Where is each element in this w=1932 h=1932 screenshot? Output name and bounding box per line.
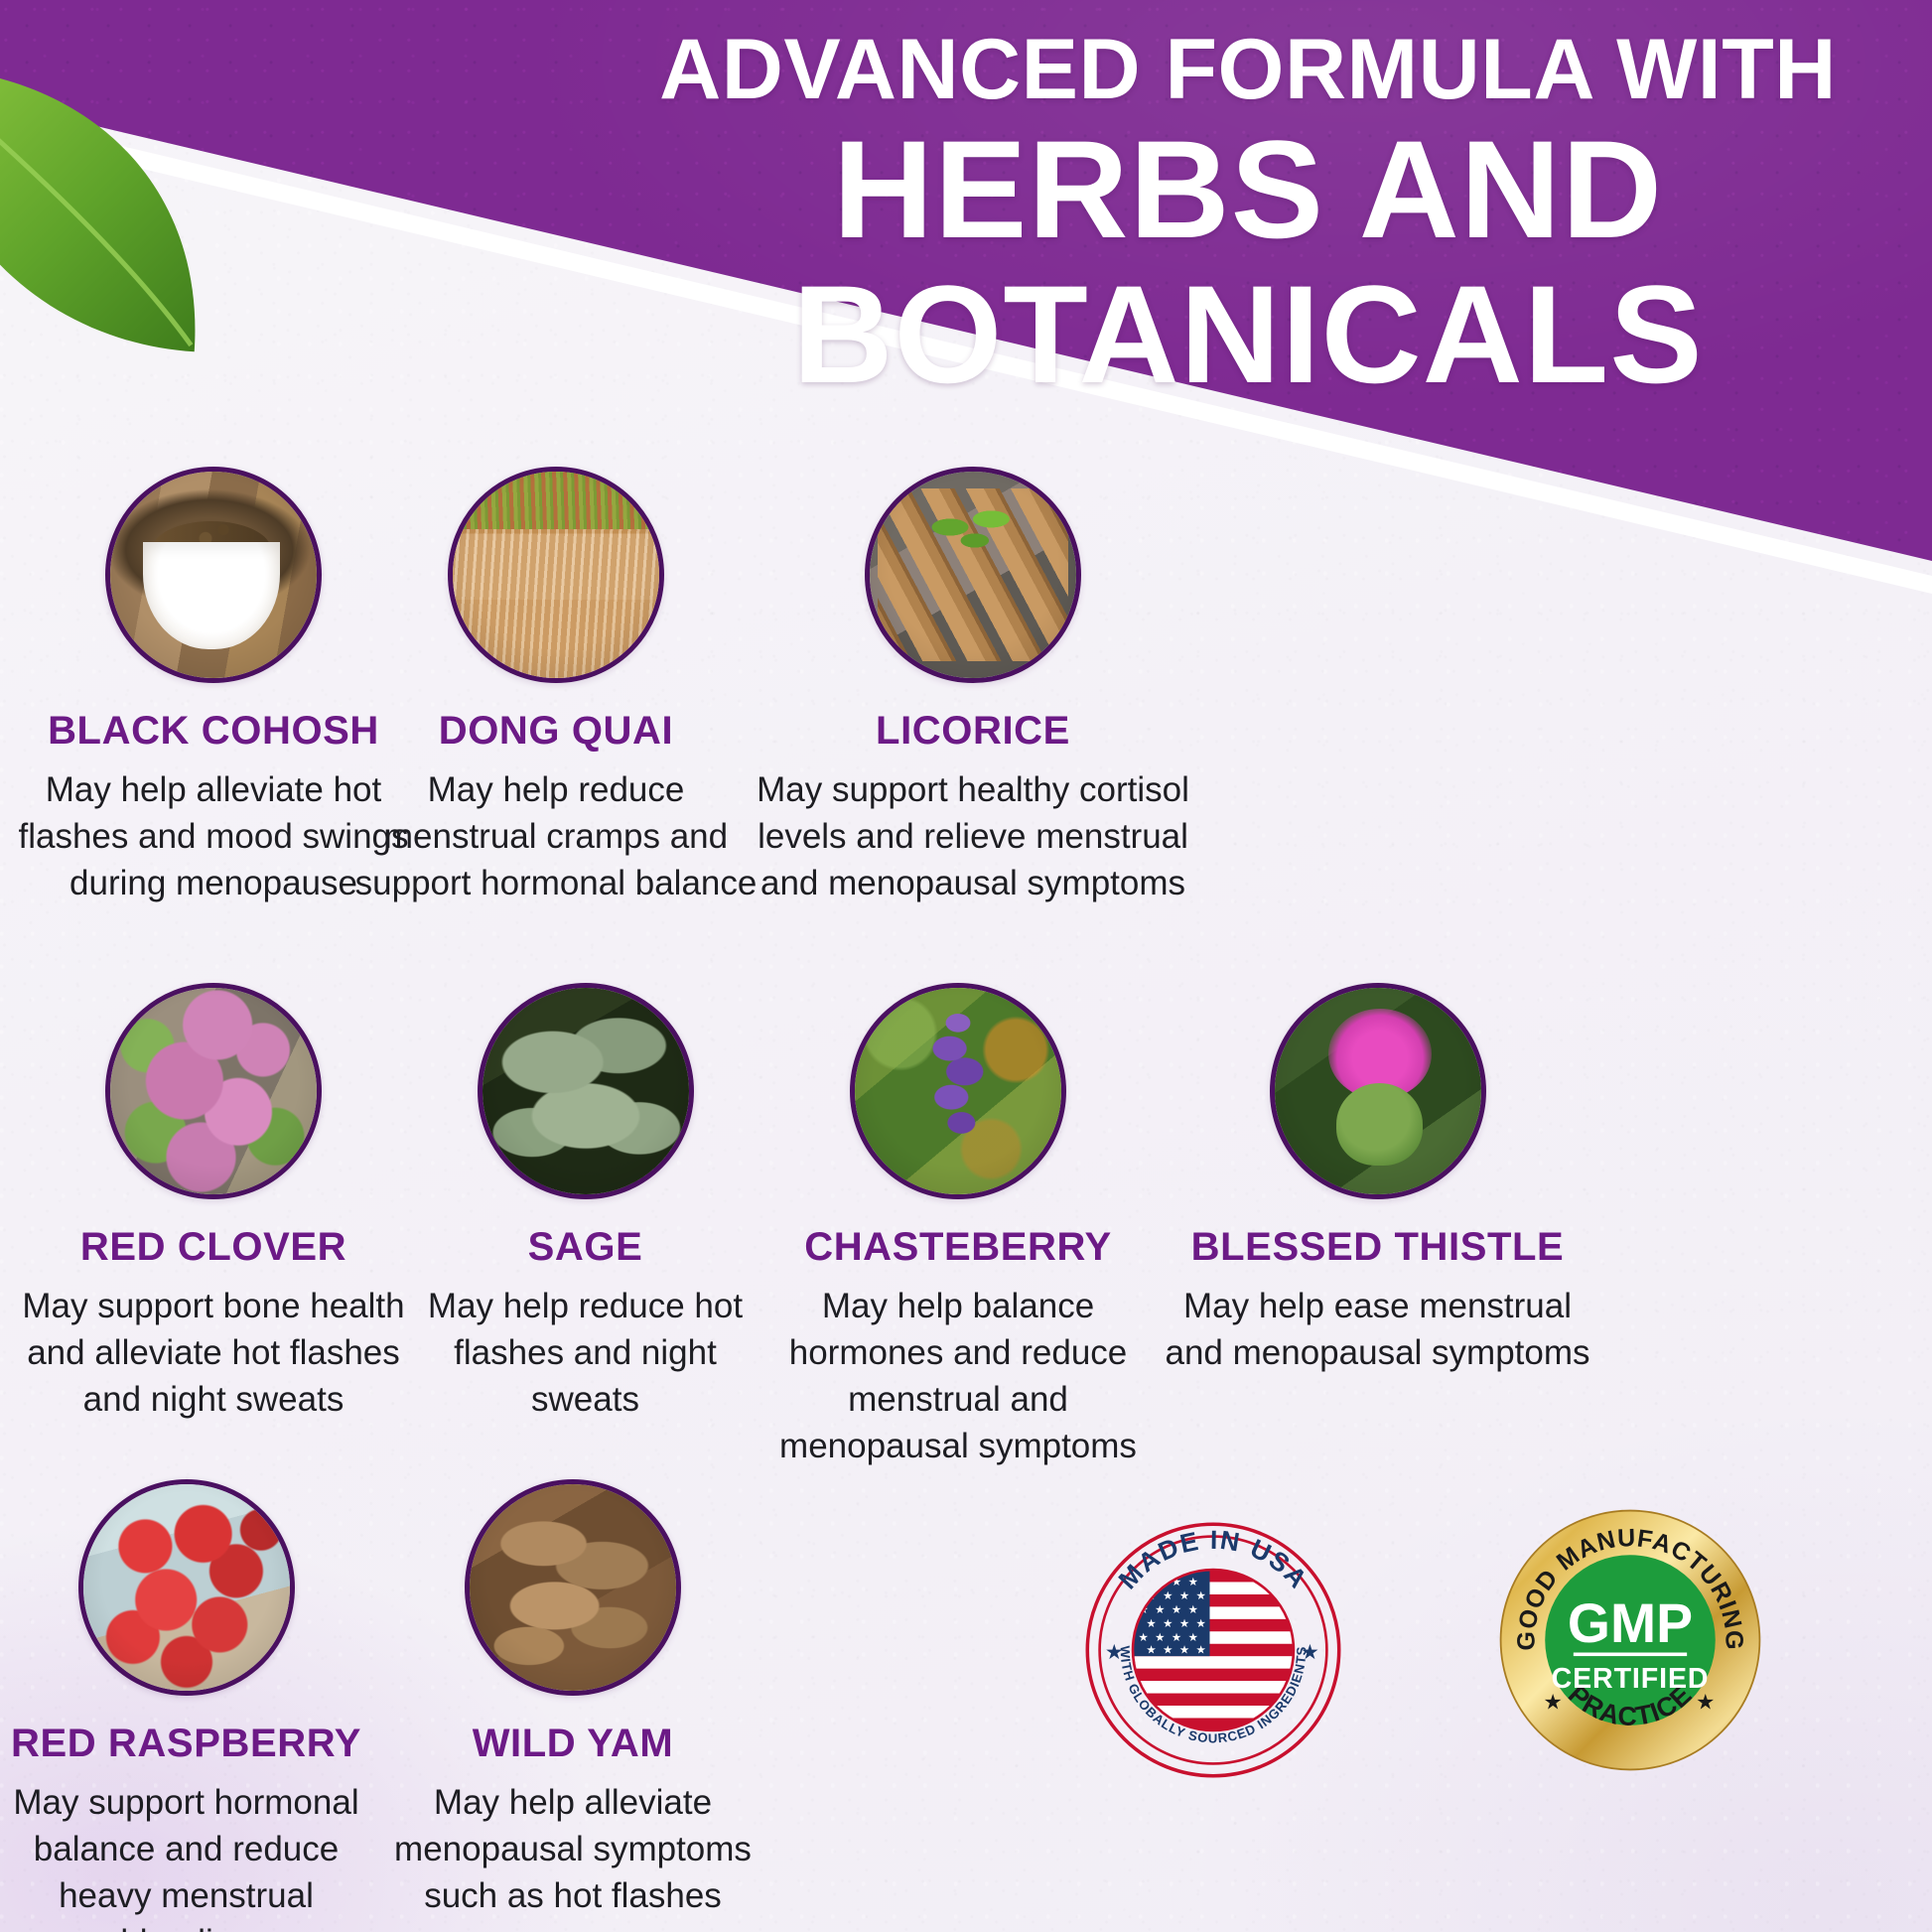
- svg-text:★: ★: [1146, 1645, 1156, 1657]
- ingredient-card-wild-yam[interactable]: WILD YAM May help alleviate menopausal s…: [379, 1479, 766, 1919]
- ingredient-description: May help ease menstrual and menopausal s…: [1152, 1283, 1603, 1376]
- ingredient-card-blessed-thistle[interactable]: BLESSED THISTLE May help ease menstrual …: [1152, 983, 1603, 1376]
- svg-text:★: ★: [1172, 1604, 1181, 1616]
- ingredient-card-dong-quai[interactable]: DONG QUAI May help reduce menstrual cram…: [347, 467, 764, 906]
- ingredient-name: BLESSED THISTLE: [1152, 1225, 1603, 1269]
- ingredient-grid: BLACK COHOSH May help alleviate hot flas…: [0, 0, 1932, 1932]
- ingredient-image-licorice: [865, 467, 1081, 683]
- ingredient-card-sage[interactable]: SAGE May help reduce hot flashes and nig…: [399, 983, 771, 1423]
- svg-text:★: ★: [1196, 1645, 1206, 1657]
- ingredient-image-red-clover: [105, 983, 322, 1199]
- ingredient-card-red-clover[interactable]: RED CLOVER May support bone health and a…: [0, 983, 432, 1423]
- gmp-center-main: GMP: [1568, 1592, 1693, 1654]
- ingredient-image-sage: [478, 983, 694, 1199]
- star-icon-left: ★: [1543, 1691, 1562, 1715]
- svg-text:★: ★: [1188, 1632, 1198, 1644]
- star-icon-left: ★: [1105, 1641, 1124, 1664]
- svg-text:★: ★: [1163, 1590, 1173, 1602]
- svg-text:★: ★: [1179, 1590, 1189, 1602]
- svg-text:★: ★: [1179, 1645, 1189, 1657]
- made-in-usa-badge: ★★★★ ★★★★ ★★★★ ★★★★ ★★★★ ★★★★ MADE IN US…: [1082, 1519, 1344, 1786]
- ingredient-description: May help balance hormones and reduce men…: [755, 1283, 1162, 1469]
- ingredient-name: DONG QUAI: [347, 709, 764, 753]
- svg-text:★: ★: [1155, 1632, 1165, 1644]
- ingredient-description: May help alleviate menopausal symptoms s…: [379, 1779, 766, 1919]
- svg-text:★: ★: [1179, 1618, 1189, 1630]
- gmp-certified-badge: GOOD MANUFACTURING PRACTICE GMP CERTIFIE…: [1497, 1507, 1763, 1778]
- ingredient-card-red-raspberry[interactable]: RED RASPBERRY May support hormonal balan…: [0, 1479, 382, 1932]
- star-icon-right: ★: [1301, 1641, 1319, 1664]
- svg-text:★: ★: [1196, 1618, 1206, 1630]
- ingredient-name: WILD YAM: [379, 1722, 766, 1765]
- ingredient-description: May support hormonal balance and reduce …: [0, 1779, 382, 1932]
- ingredient-image-wild-yam: [465, 1479, 681, 1696]
- ingredient-description: May help reduce menstrual cramps and sup…: [347, 766, 764, 906]
- ingredient-description: May support bone health and alleviate ho…: [0, 1283, 432, 1423]
- svg-text:★: ★: [1138, 1632, 1148, 1644]
- ingredient-name: CHASTEBERRY: [755, 1225, 1162, 1269]
- svg-text:★: ★: [1146, 1618, 1156, 1630]
- ingredient-name: LICORICE: [755, 709, 1191, 753]
- ingredient-card-chasteberry[interactable]: CHASTEBERRY May help balance hormones an…: [755, 983, 1162, 1469]
- ingredient-image-black-cohosh: [105, 467, 322, 683]
- ingredient-image-chasteberry: [850, 983, 1066, 1199]
- infographic-page: ADVANCED FORMULA WITH HERBS AND BOTANICA…: [0, 0, 1932, 1932]
- ingredient-image-dong-quai: [448, 467, 664, 683]
- svg-text:★: ★: [1163, 1645, 1173, 1657]
- ingredient-name: RED RASPBERRY: [0, 1722, 382, 1765]
- svg-text:★: ★: [1188, 1577, 1198, 1588]
- gmp-center-sub: CERTIFIED: [1552, 1663, 1710, 1695]
- ingredient-name: SAGE: [399, 1225, 771, 1269]
- svg-text:★: ★: [1155, 1604, 1165, 1616]
- svg-text:★: ★: [1163, 1618, 1173, 1630]
- ingredient-image-red-raspberry: [78, 1479, 295, 1696]
- svg-text:★: ★: [1196, 1590, 1206, 1602]
- ingredient-description: May help reduce hot flashes and night sw…: [399, 1283, 771, 1423]
- svg-text:★: ★: [1172, 1632, 1181, 1644]
- ingredient-description: May support healthy cortisol levels and …: [755, 766, 1191, 906]
- star-icon-right: ★: [1696, 1691, 1715, 1715]
- ingredient-name: RED CLOVER: [0, 1225, 432, 1269]
- ingredient-card-licorice[interactable]: LICORICE May support healthy cortisol le…: [755, 467, 1191, 906]
- svg-text:★: ★: [1188, 1604, 1198, 1616]
- ingredient-image-blessed-thistle: [1270, 983, 1486, 1199]
